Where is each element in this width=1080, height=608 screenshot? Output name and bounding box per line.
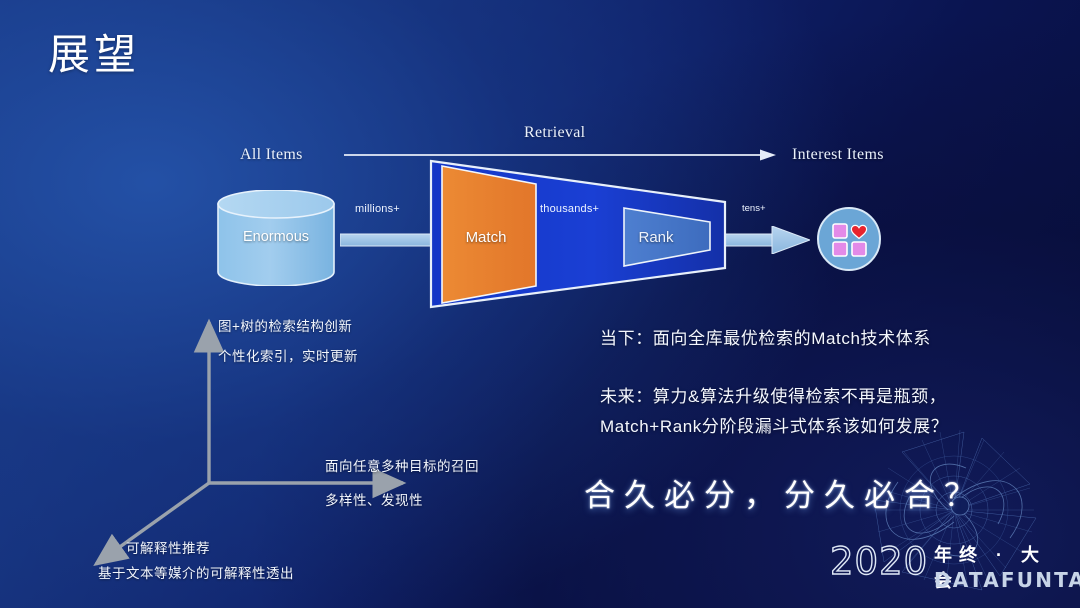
note-current: 当下：面向全库最优检索的Match技术体系 [600,324,931,349]
logo-brand: DATAFUNTALK [934,568,1080,592]
event-logo: 2020 年终 · 大会 DATAFUNTALK [830,538,1070,598]
all-items-label: All Items [240,146,303,164]
match-stage-label: Match [448,229,524,246]
rank-stage-label: Rank [625,229,687,246]
axis-z-label-line2: 基于文本等媒介的可解释性透出 [98,562,294,582]
thousands-count-label: thousands+ [540,203,599,215]
axis-x-label-line1: 面向任意多种目标的召回 [325,455,479,475]
note-future-line1: 未来：算力&算法升级使得检索不再是瓶颈， [600,382,946,407]
retrieval-label: Retrieval [524,124,585,142]
axis-x-label-line2: 多样性、发现性 [325,489,423,509]
tens-count-label: tens+ [742,203,766,214]
page-title: 展望 [48,32,140,78]
axis-y-label-line1: 图+树的检索结构创新 [218,315,352,335]
slide-canvas: 展望 Retrieval All Items Interest Items [0,0,1080,608]
cylinder-label: Enormous [216,229,336,245]
interest-items-icon [816,206,882,272]
tagline-text: 合久必分，分久必合？ [584,470,984,515]
axis-z-label-line1: 可解释性推荐 [126,537,210,557]
axis-y-label-line2: 个性化索引，实时更新 [218,345,358,365]
interest-items-label: Interest Items [792,146,884,164]
millions-count-label: millions+ [355,203,400,215]
logo-year: 2020 [830,540,928,583]
